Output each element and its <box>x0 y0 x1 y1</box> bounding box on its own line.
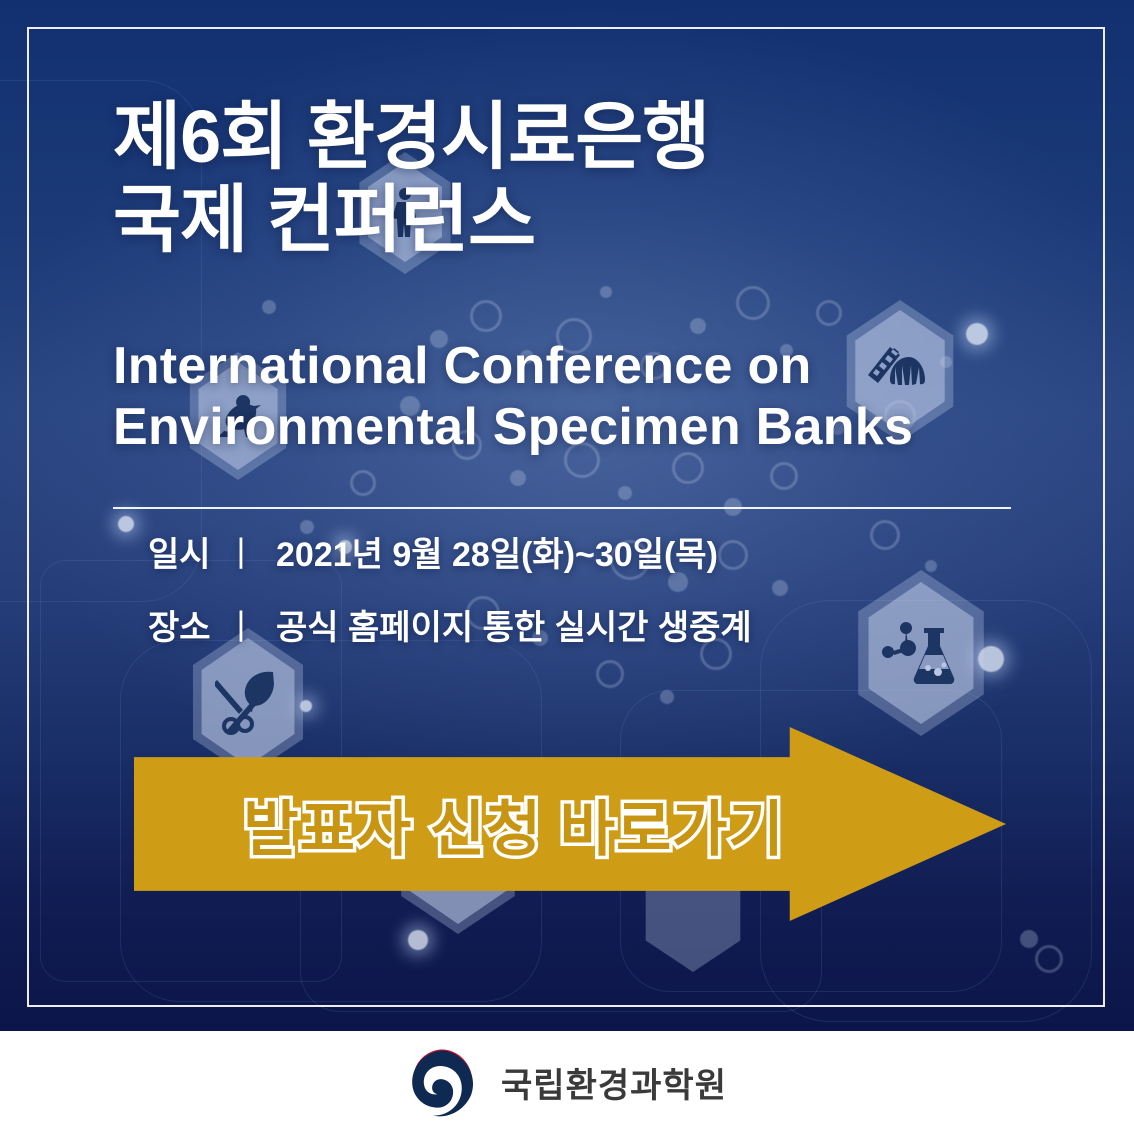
footer: 국립환경과학원 <box>0 1031 1134 1134</box>
apply-speaker-button[interactable] <box>134 727 1006 921</box>
event-details: 일시 丨 2021년 9월 28일(화)~30일(목) 장소 丨 공식 홈페이지… <box>148 527 1048 673</box>
title-divider <box>113 507 1011 509</box>
taegeuk-logo-icon <box>407 1046 481 1120</box>
page-title-korean: 제6회 환경시료은행 국제 컨퍼런스 <box>113 96 1013 262</box>
detail-separator: 丨 <box>224 600 258 649</box>
detail-separator: 丨 <box>224 527 258 576</box>
detail-value-venue: 공식 홈페이지 통한 실시간 생중계 <box>276 600 752 649</box>
event-detail-row-date: 일시 丨 2021년 9월 28일(화)~30일(목) <box>148 527 1048 576</box>
detail-value-date: 2021년 9월 28일(화)~30일(목) <box>276 527 718 576</box>
page-title-english: International Conference on Environmenta… <box>113 336 1013 459</box>
event-detail-row-venue: 장소 丨 공식 홈페이지 통한 실시간 생중계 <box>148 600 1048 649</box>
detail-label-venue: 장소 <box>148 600 218 649</box>
footer-organization-name: 국립환경과학원 <box>501 1058 727 1107</box>
poster-content: 제6회 환경시료은행 국제 컨퍼런스 International Confere… <box>0 0 1134 1031</box>
conference-poster: 제6회 환경시료은행 국제 컨퍼런스 International Confere… <box>0 0 1134 1134</box>
detail-label-date: 일시 <box>148 527 218 576</box>
